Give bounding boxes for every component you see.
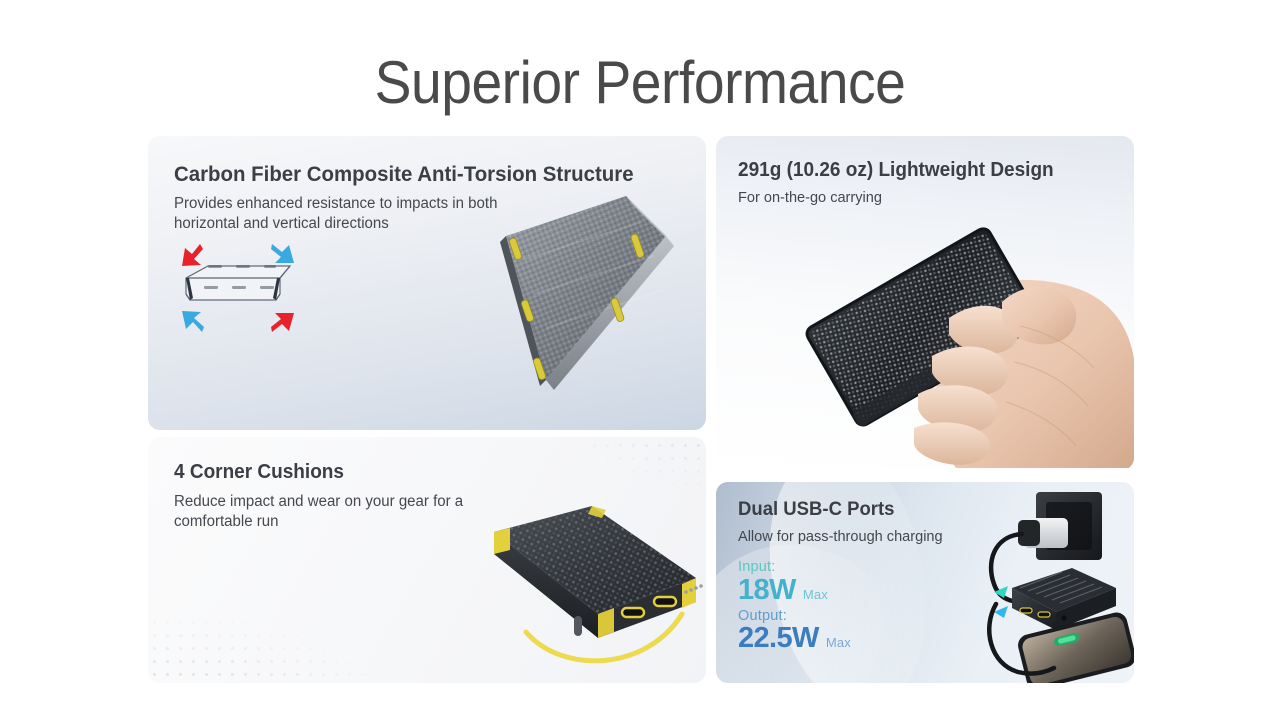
card-anti-torsion-title: Carbon Fiber Composite Anti-Torsion Stru… (174, 162, 634, 187)
card-dual-usbc-ports-title: Dual USB-C Ports (738, 498, 894, 521)
card-lightweight-subtitle: For on-the-go carrying (738, 188, 882, 208)
feature-card-grid: Carbon Fiber Composite Anti-Torsion Stru… (0, 0, 1280, 720)
power-spec-block: Input: 18W Max Output: 22.5W Max (738, 559, 851, 656)
anti-torsion-diagram-icon (168, 238, 308, 338)
card-dual-usbc-ports[interactable]: Dual USB-C Ports Allow for pass-through … (716, 482, 1134, 683)
card-corner-cushions-subtitle: Reduce impact and wear on your gear for … (174, 492, 494, 533)
card-lightweight[interactable]: 291g (10.26 oz) Lightweight Design For o… (716, 136, 1134, 470)
card-anti-torsion-subtitle: Provides enhanced resistance to impacts … (174, 194, 523, 235)
arrow-red-bottom-right (271, 313, 294, 332)
spec-output-max: Max (826, 635, 851, 650)
arrow-blue-bottom-left (182, 311, 204, 332)
power-bank-cushions-image (470, 496, 706, 676)
spec-input-max: Max (803, 587, 828, 602)
card-lightweight-title: 291g (10.26 oz) Lightweight Design (738, 159, 1054, 182)
spec-row-input: Input: 18W Max (738, 559, 851, 605)
hand-holding-power-bank-image (806, 206, 1134, 468)
card-corner-cushions[interactable]: 4 Corner Cushions Reduce impact and wear… (148, 437, 706, 683)
passthrough-charging-scene-image (960, 482, 1134, 683)
card-corner-cushions-title: 4 Corner Cushions (174, 461, 344, 484)
arrow-blue-top-right (271, 244, 294, 263)
card-dual-usbc-ports-subtitle: Allow for pass-through charging (738, 527, 943, 547)
arrow-red-top-left (182, 244, 203, 266)
card-anti-torsion[interactable]: Carbon Fiber Composite Anti-Torsion Stru… (148, 136, 706, 430)
spec-row-output: Output: 22.5W Max (738, 608, 851, 654)
spec-input-value: 18W (738, 576, 796, 605)
spec-output-value: 22.5W (738, 624, 819, 653)
